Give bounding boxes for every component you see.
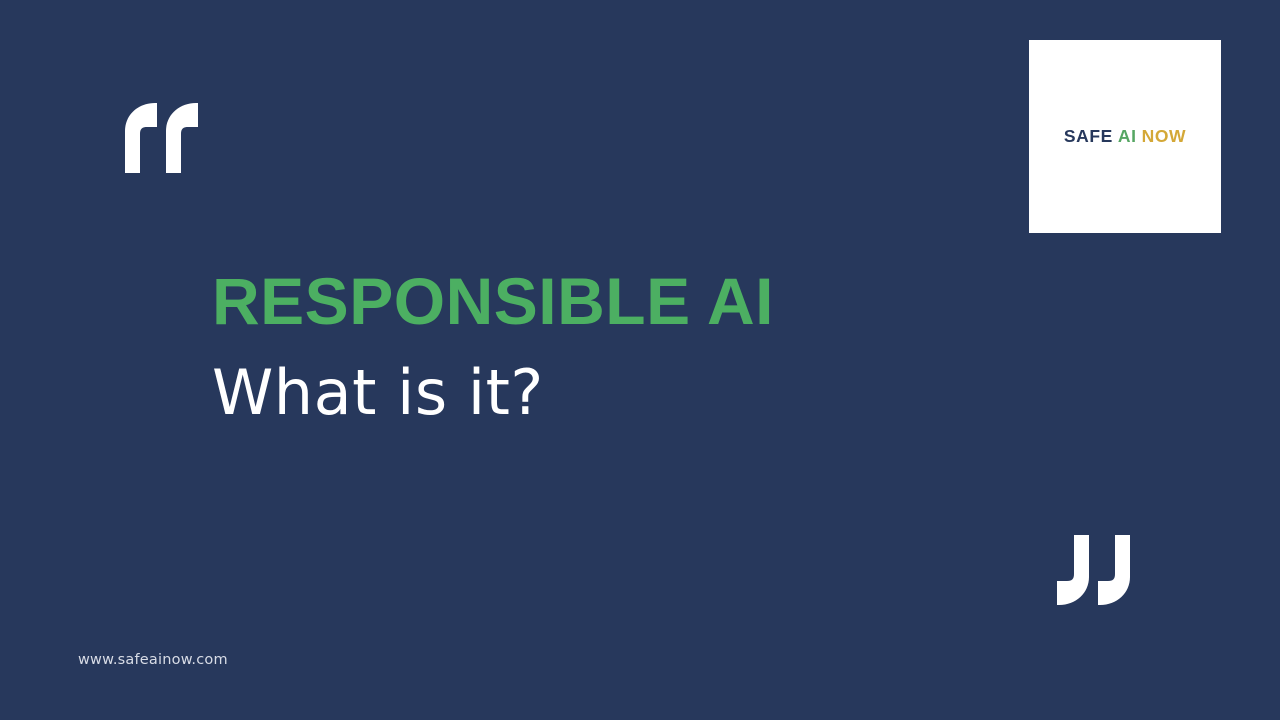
brand-word-now: NOW xyxy=(1142,126,1187,146)
slide-text-block: RESPONSIBLE AI What is it? xyxy=(212,268,1012,424)
slide-subheadline: What is it? xyxy=(212,334,1012,424)
closing-quote-icon xyxy=(1056,535,1130,605)
brand-word-safe: SAFE xyxy=(1064,126,1113,146)
slide-canvas: SAFEAINOW RESPONSIBLE AI What is it? www… xyxy=(0,0,1280,720)
footer-website-url: www.safeainow.com xyxy=(78,652,228,668)
brand-word-ai: AI xyxy=(1118,126,1137,146)
slide-headline: RESPONSIBLE AI xyxy=(212,268,1012,334)
brand-wordmark: SAFEAINOW xyxy=(1064,128,1186,146)
opening-quote-icon xyxy=(125,103,199,173)
brand-logo-card: SAFEAINOW xyxy=(1029,40,1221,233)
